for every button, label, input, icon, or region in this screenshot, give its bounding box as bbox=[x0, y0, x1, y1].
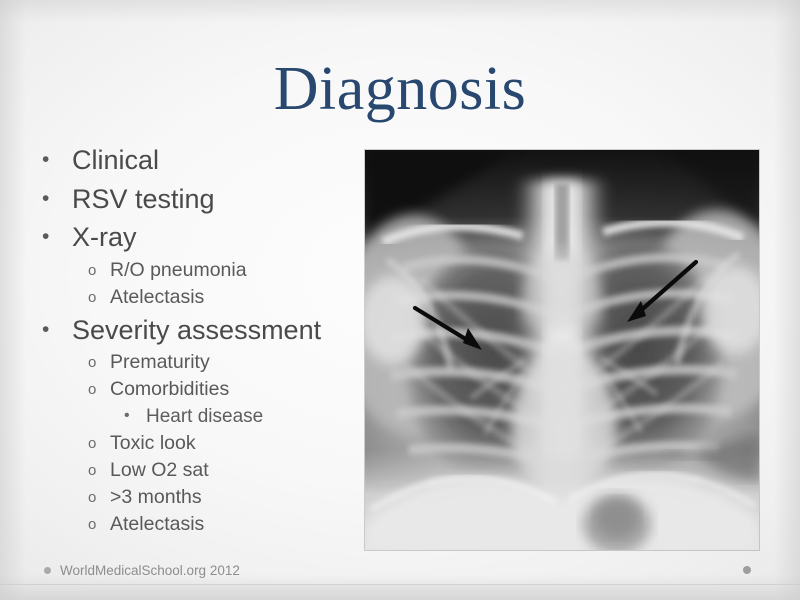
bullet-item-2: oR/O pneumonia bbox=[36, 257, 366, 284]
bullet-item-1: •RSV testing bbox=[36, 180, 366, 219]
bullet-text: >3 months bbox=[110, 486, 202, 508]
chest-xray-image bbox=[365, 150, 759, 550]
bullet-text: Toxic look bbox=[110, 432, 196, 454]
bullet-item-3: •Heart disease bbox=[36, 403, 366, 430]
slide-canvas: Diagnosis •Clinical•RSV testing•X-rayoR/… bbox=[0, 0, 800, 600]
hollow-bullet-icon: o bbox=[88, 284, 106, 311]
bullet-item-2: oComorbidities bbox=[36, 376, 366, 403]
bullet-item-1: •Clinical bbox=[36, 141, 366, 180]
hollow-bullet-icon: o bbox=[88, 484, 106, 511]
bullet-text: Severity assessment bbox=[72, 315, 321, 345]
bullet-list: •Clinical•RSV testing•X-rayoR/O pneumoni… bbox=[36, 141, 366, 538]
bullet-dot-icon: • bbox=[42, 218, 62, 257]
footer-credit: WorldMedicalSchool.org 2012 bbox=[44, 563, 240, 578]
bullet-item-2: oAtelectasis bbox=[36, 511, 366, 538]
footer-bullet-icon bbox=[44, 567, 51, 574]
footer-divider bbox=[0, 584, 800, 585]
bullet-dot-icon: • bbox=[42, 180, 62, 219]
bullet-item-2: oAtelectasis bbox=[36, 284, 366, 311]
hollow-bullet-icon: o bbox=[88, 349, 106, 376]
bullet-text: Low O2 sat bbox=[110, 459, 209, 481]
bullet-text: Heart disease bbox=[146, 406, 263, 427]
hollow-bullet-icon: o bbox=[88, 430, 106, 457]
bullet-text: Clinical bbox=[72, 145, 159, 175]
bullet-dot-icon: • bbox=[42, 311, 62, 350]
bullet-text: Prematurity bbox=[110, 351, 210, 373]
bullet-text: R/O pneumonia bbox=[110, 259, 247, 281]
bullet-item-2: oPrematurity bbox=[36, 349, 366, 376]
footer-credit-text: WorldMedicalSchool.org 2012 bbox=[60, 563, 240, 578]
bullet-item-2: oLow O2 sat bbox=[36, 457, 366, 484]
bullet-text: Atelectasis bbox=[110, 286, 204, 308]
hollow-bullet-icon: o bbox=[88, 376, 106, 403]
bullet-item-1: •Severity assessment bbox=[36, 311, 366, 350]
bullet-text: Comorbidities bbox=[110, 378, 229, 400]
bullet-text: RSV testing bbox=[72, 184, 215, 214]
hollow-bullet-icon: o bbox=[88, 457, 106, 484]
bullet-text: X-ray bbox=[72, 222, 137, 252]
bullet-item-1: •X-ray bbox=[36, 218, 366, 257]
chest-xray-graphic bbox=[365, 150, 759, 550]
bullet-item-2: o>3 months bbox=[36, 484, 366, 511]
hollow-bullet-icon: o bbox=[88, 257, 106, 284]
footer-band bbox=[0, 585, 800, 600]
bullet-item-2: oToxic look bbox=[36, 430, 366, 457]
page-title: Diagnosis bbox=[0, 54, 800, 125]
hollow-bullet-icon: o bbox=[88, 511, 106, 538]
footer-right-dot-icon bbox=[743, 566, 751, 574]
bullet-dot-icon: • bbox=[42, 141, 62, 180]
bullet-dot-icon: • bbox=[124, 402, 142, 429]
bullet-text: Atelectasis bbox=[110, 513, 204, 535]
